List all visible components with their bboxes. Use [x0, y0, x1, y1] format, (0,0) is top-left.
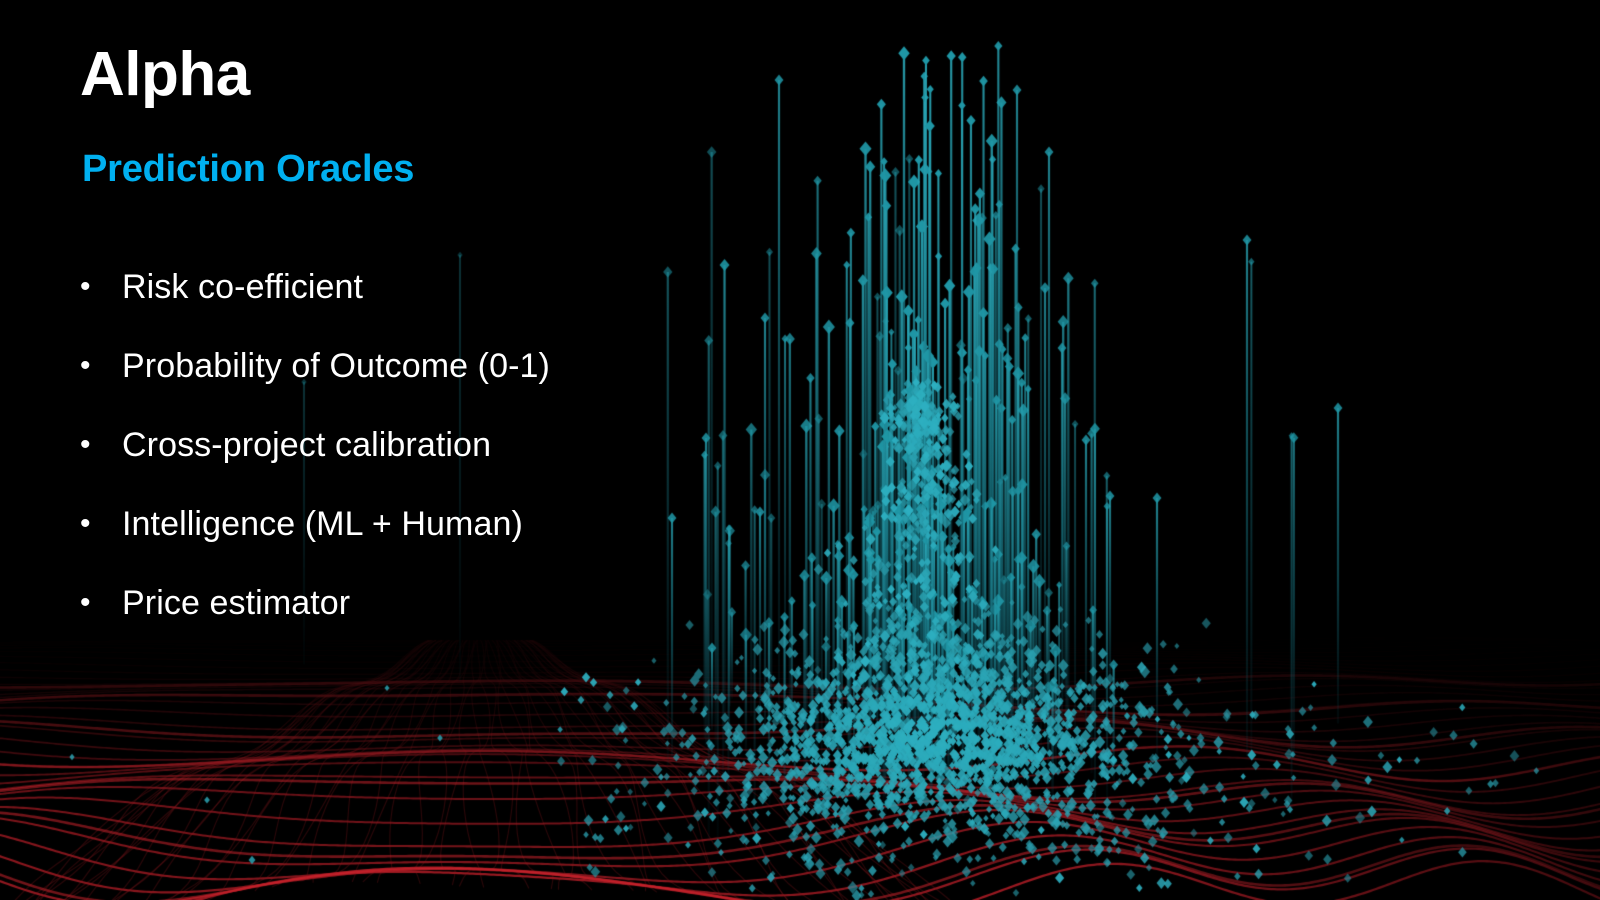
bullet-dot-icon: •: [80, 430, 122, 460]
bullet-label: Cross-project calibration: [122, 426, 491, 465]
list-item: • Risk co-efficient: [80, 268, 700, 347]
list-item: • Price estimator: [80, 584, 700, 663]
bullet-label: Probability of Outcome (0-1): [122, 347, 550, 386]
bullet-label: Risk co-efficient: [122, 268, 363, 307]
bullet-dot-icon: •: [80, 351, 122, 381]
bullet-dot-icon: •: [80, 588, 122, 618]
bullet-label: Price estimator: [122, 584, 350, 623]
bullet-dot-icon: •: [80, 509, 122, 539]
list-item: • Intelligence (ML + Human): [80, 505, 700, 584]
slide-canvas: Alpha Prediction Oracles • Risk co-effic…: [0, 0, 1600, 900]
list-item: • Cross-project calibration: [80, 426, 700, 505]
list-item: • Probability of Outcome (0-1): [80, 347, 700, 426]
page-subtitle: Prediction Oracles: [82, 150, 414, 188]
bullet-label: Intelligence (ML + Human): [122, 505, 523, 544]
text-panel: Alpha Prediction Oracles • Risk co-effic…: [0, 0, 700, 900]
bullet-dot-icon: •: [80, 272, 122, 302]
page-title: Alpha: [80, 44, 250, 106]
bullet-list: • Risk co-efficient • Probability of Out…: [80, 268, 700, 663]
